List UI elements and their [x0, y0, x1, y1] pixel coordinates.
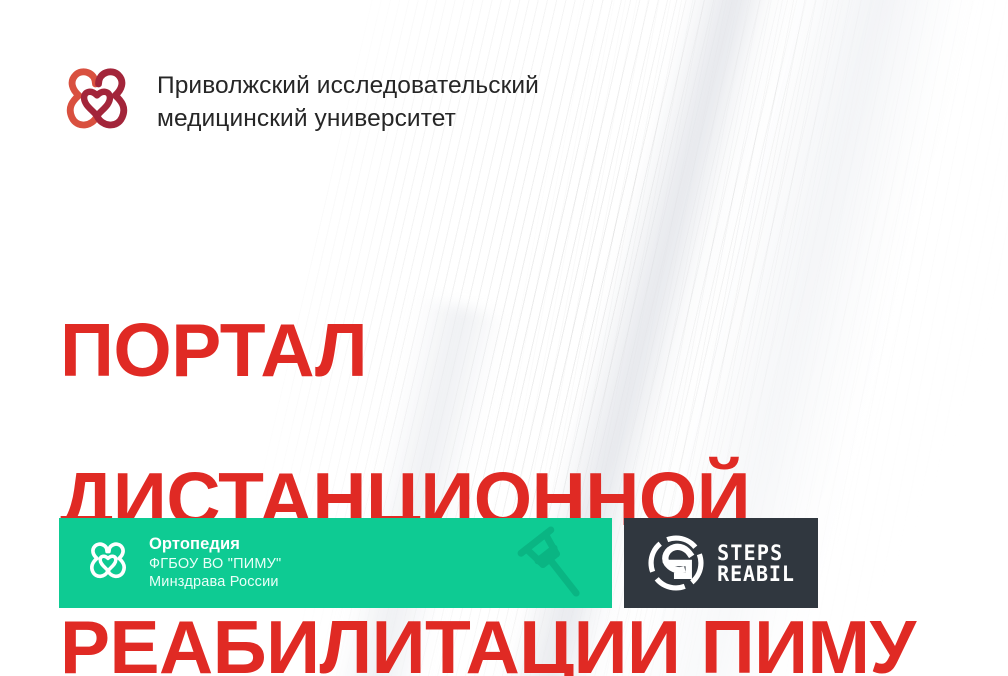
orthopedics-subtitle-1: ФГБОУ ВО "ПИМУ" [149, 555, 281, 573]
page-title-line-3: РЕАБИЛИТАЦИИ ПИМУ [60, 611, 916, 676]
university-lockup: Приволжский исследовательскиймедицинский… [59, 61, 539, 145]
university-name-line2: медицинский университет [157, 105, 456, 132]
steps-wordmark-line-2: REABIL [717, 563, 795, 585]
university-name: Приволжский исследовательскиймедицинский… [157, 70, 539, 135]
steps-circular-s-icon [647, 534, 705, 592]
orthopedics-title: Ортопедия [149, 534, 281, 555]
university-name-line1: Приволжский исследовательский [157, 72, 539, 99]
page-title: ПОРТАЛ ДИСТАНЦИОННОЙ РЕАБИЛИТАЦИИ ПИМУ [60, 239, 916, 676]
steps-reabil-wordmark: STEPS REABIL [717, 541, 795, 584]
page-title-line-1: ПОРТАЛ [60, 314, 916, 388]
orthopedics-badge[interactable]: Ортопедия ФГБОУ ВО "ПИМУ" Минздрава Росс… [59, 518, 612, 608]
steps-wordmark-line-1: STEPS [717, 541, 795, 563]
interlocking-hearts-icon [85, 537, 131, 589]
orthopedics-subtitle-2: Минздрава России [149, 573, 281, 591]
poster-root: Приволжский исследовательскиймедицинский… [0, 0, 1008, 676]
orthopedics-text-block: Ортопедия ФГБОУ ВО "ПИМУ" Минздрава Росс… [149, 534, 281, 592]
steps-reabil-badge[interactable]: STEPS REABIL [624, 518, 818, 608]
badge-row: Ортопедия ФГБОУ ВО "ПИМУ" Минздрава Росс… [59, 518, 818, 608]
crutch-icon [512, 520, 598, 608]
interlocking-hearts-icon [59, 61, 135, 145]
